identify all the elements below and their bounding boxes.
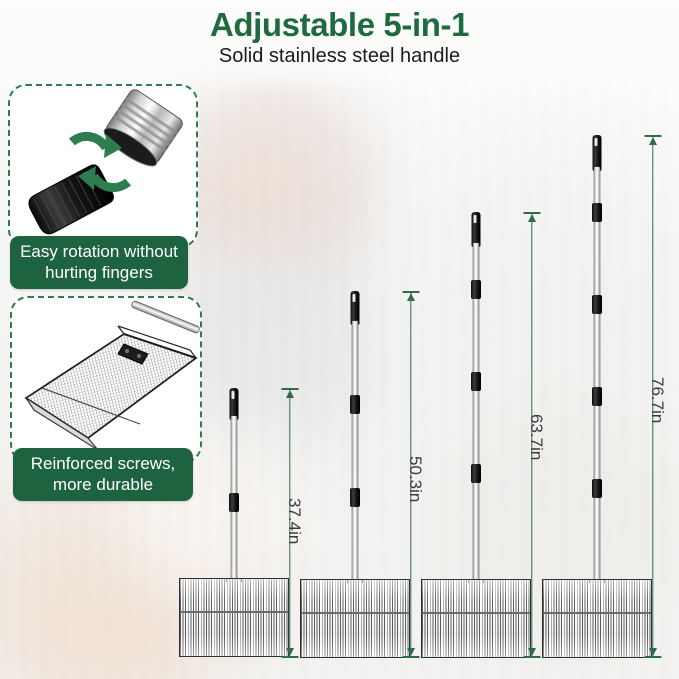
scoop-head (300, 579, 410, 658)
callout-screws-label: Reinforced screws, more durable (13, 448, 193, 501)
dimension-label-63: 63.7in (526, 414, 546, 460)
product-rake-4 (542, 135, 652, 658)
handle-collar (350, 395, 360, 414)
handle-grip (472, 212, 481, 247)
handle-collar (350, 488, 360, 507)
handle-collar (592, 203, 602, 222)
dimension-line-37: 37.4in (280, 388, 300, 658)
feature-callout-rotation: Easy rotation without hurting fingers (8, 84, 208, 284)
handle-collar (229, 493, 239, 512)
screws-illustration (12, 298, 200, 461)
handle-collar (592, 387, 602, 406)
page-title: Adjustable 5-in-1 (0, 6, 679, 44)
page-subtitle: Solid stainless steel handle (0, 45, 679, 68)
product-infographic: Adjustable 5-in-1 Solid stainless steel … (0, 0, 679, 679)
handle-grip (351, 291, 360, 325)
dimension-label-76: 76.7in (647, 377, 667, 423)
handle-collar (471, 372, 481, 391)
callout-rotation-image-frame (8, 84, 198, 248)
handle-collar (592, 295, 602, 314)
callout-screws-label-line1: Reinforced screws, (31, 454, 176, 473)
dimension-label-37: 37.4in (284, 498, 304, 544)
callout-screws-image-frame (10, 296, 202, 463)
product-rake-3 (421, 212, 531, 658)
callout-rotation-label-line1: Easy rotation without (20, 242, 178, 261)
handle-collar (592, 479, 602, 498)
handle-collar (471, 464, 481, 483)
dimension-line-50: 50.3in (401, 291, 421, 658)
dimension-label-50: 50.3in (405, 456, 425, 502)
product-rake-1 (179, 388, 289, 658)
product-rake-2 (300, 291, 410, 658)
dimension-line-63: 63.7in (522, 212, 542, 658)
scoop-head (421, 579, 531, 658)
callout-screws-label-line2: more durable (53, 475, 153, 494)
handle-grip (593, 135, 602, 171)
scoop-head (542, 579, 652, 658)
dimension-line-76: 76.7in (643, 135, 663, 658)
callout-rotation-label: Easy rotation without hurting fingers (10, 236, 188, 289)
callout-rotation-label-line2: hurting fingers (45, 263, 153, 282)
scoop-head (179, 578, 289, 657)
handle-shaft (594, 167, 600, 584)
handle-collar (471, 280, 481, 299)
handle-shaft (352, 321, 358, 582)
rotation-illustration (10, 86, 196, 246)
